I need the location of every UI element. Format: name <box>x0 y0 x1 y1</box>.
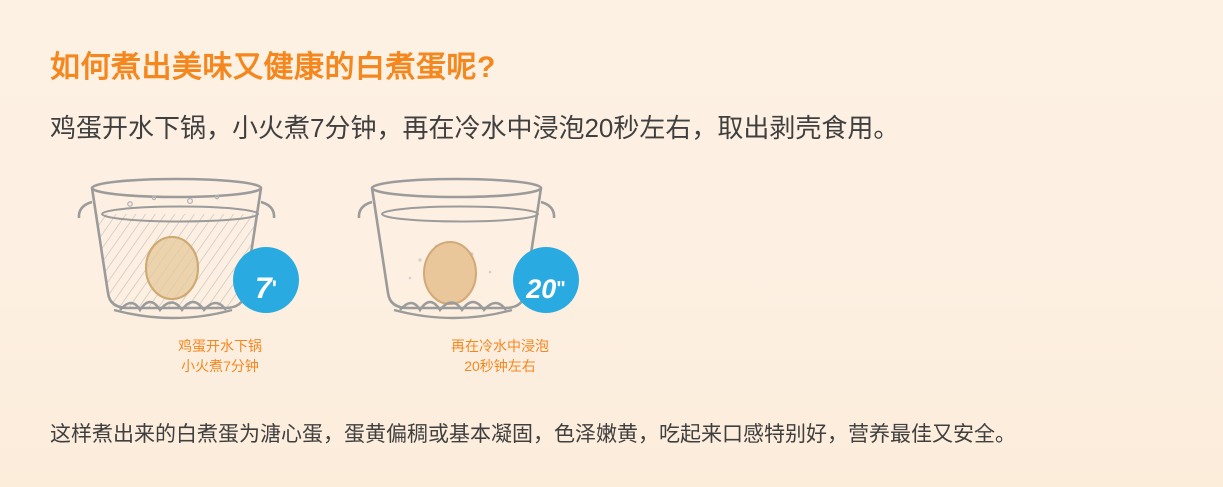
boiling-pot-illustration <box>70 168 370 328</box>
time-badge-unit: ' <box>272 276 277 302</box>
pot-rim <box>372 179 541 197</box>
step-soak-caption: 再在冷水中浸泡 20秒钟左右 <box>350 336 650 376</box>
caption-line-1: 再在冷水中浸泡 <box>350 336 650 356</box>
time-badge-unit: " <box>556 278 565 301</box>
time-badge-boil: 7' <box>233 256 299 322</box>
caption-line-1: 鸡蛋开水下锅 <box>70 336 370 356</box>
caption-line-2: 小火煮7分钟 <box>70 356 370 376</box>
caption-line-2: 20秒钟左右 <box>350 356 650 376</box>
pot-handle-left <box>79 202 92 218</box>
time-badge-soak: 20" <box>513 256 579 322</box>
bubble-icon <box>188 199 193 204</box>
bubble-icon <box>128 202 132 206</box>
water-surface-line <box>382 207 538 222</box>
cold-water-pot-illustration <box>350 168 650 328</box>
droplet-icon <box>489 271 492 274</box>
stove-base <box>394 310 512 318</box>
pot-handle-right <box>541 202 554 218</box>
step-soak: 20" 再在冷水中浸泡 20秒钟左右 <box>350 168 650 388</box>
summary-text: 这样煮出来的白煮蛋为溏心蛋，蛋黄偏稠或基本凝固，色泽嫩黄，吃起来口感特别好，营养… <box>50 418 1016 448</box>
droplet-icon <box>418 258 421 261</box>
stove-base <box>114 310 232 318</box>
infographic-page: 如何煮出美味又健康的白煮蛋呢? 鸡蛋开水下锅，小火煮7分钟，再在冷水中浸泡20秒… <box>0 0 1223 487</box>
egg-icon <box>424 242 476 304</box>
pot-handle-right <box>261 202 274 218</box>
page-title: 如何煮出美味又健康的白煮蛋呢? <box>50 42 496 86</box>
pot-rim <box>92 179 261 197</box>
step-boil-caption: 鸡蛋开水下锅 小火煮7分钟 <box>70 336 370 376</box>
time-badge-value: 7 <box>255 272 272 306</box>
droplet-icon <box>409 277 412 280</box>
step-boil: 7' 鸡蛋开水下锅 小火煮7分钟 <box>70 168 370 388</box>
instruction-text: 鸡蛋开水下锅，小火煮7分钟，再在冷水中浸泡20秒左右，取出剥壳食用。 <box>50 108 899 145</box>
pot-handle-left <box>359 202 372 218</box>
bubble-icon <box>152 196 155 199</box>
time-badge-value: 20 <box>526 274 556 305</box>
